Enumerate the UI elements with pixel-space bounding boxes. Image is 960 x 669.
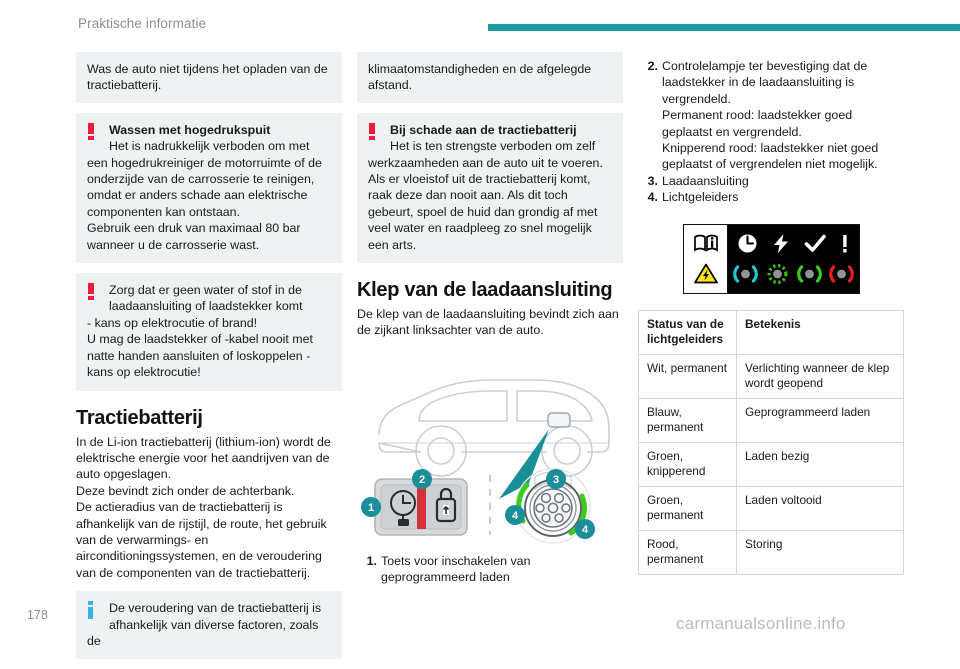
charging-flap-diagram: 1 2 3 4 4 <box>357 351 623 547</box>
svg-text:2: 2 <box>419 474 425 486</box>
warning-icon <box>87 283 95 301</box>
paragraph: De actieradius van de tractiebatterij is… <box>76 499 342 581</box>
list-item-1: 1. Toets voor inschakelen van geprogramm… <box>357 553 623 586</box>
callout-info-aging: De veroudering van de tractiebatterij is… <box>76 591 342 659</box>
table-cell-status: Groen, knipperend <box>639 442 737 486</box>
led-indicator-panel <box>683 224 860 294</box>
table-header-cell: Status van de lichtgeleiders <box>639 310 737 354</box>
table-header-cell: Betekenis <box>737 310 904 354</box>
table-cell-meaning: Geprogrammeerd laden <box>737 398 904 442</box>
exclamation-icon <box>840 233 850 254</box>
list-item-number: 2. <box>638 58 658 74</box>
manual-book-icon <box>693 233 719 253</box>
paragraph: In de Li-ion tractiebatterij (lithium-io… <box>76 434 342 483</box>
list-item-number: 4. <box>638 189 658 205</box>
table-row: Wit, permanent Verlichting wanneer de kl… <box>639 354 904 398</box>
list-item-4: 4. Lichtgeleiders <box>638 189 904 205</box>
svg-text:4: 4 <box>582 524 589 536</box>
table-row: Rood, permanent Storing <box>639 530 904 574</box>
callout-info-line-2: afhankelijk van diverse factoren, zoals … <box>87 617 331 650</box>
clock-icon <box>737 233 758 254</box>
led-indicator-icon <box>732 264 759 284</box>
callout-intro: Was de auto niet tijdens het opladen van… <box>76 52 342 103</box>
paragraph: De klep van de laadaansluiting bevindt z… <box>357 306 623 339</box>
callout-heading: Wassen met hogedrukspuit <box>87 122 331 138</box>
car-silhouette-icon <box>379 380 609 476</box>
callout-1: 1 <box>361 497 381 517</box>
plug-icon <box>398 519 409 526</box>
callout-heading: Bij schade aan de tractiebatterij <box>368 122 612 138</box>
table-cell-status: Wit, permanent <box>639 354 737 398</box>
lightning-bolt-icon <box>771 233 791 254</box>
info-icon <box>88 601 95 619</box>
red-indicator-strip <box>417 485 426 529</box>
callout-lead-1: Zorg dat er geen water of stof in de <box>87 282 331 298</box>
callout-4-left: 4 <box>505 505 525 525</box>
list-item-2: 2. Controlelampje ter bevestiging dat de… <box>638 58 904 173</box>
checkmark-icon <box>804 233 827 254</box>
callout-lead: Het is nadrukkelijk verboden om met <box>87 138 331 154</box>
list-item-text: Laadaansluiting <box>662 174 749 188</box>
warning-icon <box>87 123 95 141</box>
header-rule <box>488 24 960 31</box>
content-column-middle: klimaatomstandigheden en de afgelegde af… <box>357 52 623 586</box>
table-row: Blauw, permanent Geprogrammeerd laden <box>639 398 904 442</box>
section-title-tractiebatterij: Tractiebatterij <box>76 407 342 430</box>
table-cell-status: Groen, permanent <box>639 486 737 530</box>
callout-body: werkzaamheden aan de auto uit te voeren.… <box>368 156 603 252</box>
paragraph-block: In de Li-ion tractiebatterij (lithium-io… <box>76 434 342 582</box>
table-row: Groen, permanent Laden voltooid <box>639 486 904 530</box>
list-item-number: 3. <box>638 173 658 189</box>
svg-text:4: 4 <box>512 510 519 522</box>
callout-warning-water-dust: Zorg dat er geen water of stof in de laa… <box>76 273 342 390</box>
table-row: Groen, knipperend Laden bezig <box>639 442 904 486</box>
warning-icon <box>368 123 376 141</box>
list-item-text: Toets voor inschakelen van geprogrammeer… <box>381 554 530 584</box>
callout-lead-2: laadaansluiting of laadstekker komt <box>87 298 331 314</box>
indicator-panel-symbols <box>728 225 859 293</box>
callout-2: 2 <box>412 469 432 489</box>
table-cell-meaning: Laden bezig <box>737 442 904 486</box>
numbered-list-part-2: 2. Controlelampje ter bevestiging dat de… <box>638 58 904 206</box>
callout-warning-pressure-wash: Wassen met hogedrukspuit Het is nadrukke… <box>76 113 342 263</box>
callout-info-line-1: De veroudering van de tractiebatterij is <box>87 600 331 616</box>
list-item-text: Controlelampje ter bevestiging dat de la… <box>662 58 904 107</box>
callout-body: een hogedrukreiniger de motorruimte of d… <box>87 156 322 219</box>
content-column-right: 2. Controlelampje ter bevestiging dat de… <box>638 52 904 575</box>
callout-body: - kans op elektrocutie of brand! <box>87 315 331 331</box>
led-indicator-icon <box>828 264 855 284</box>
header-title: Praktische informatie <box>78 16 206 31</box>
led-indicator-icon <box>796 264 823 284</box>
page-header: Praktische informatie <box>0 0 960 40</box>
list-item-number: 1. <box>357 553 377 569</box>
callout-3: 3 <box>546 469 566 489</box>
svg-text:1: 1 <box>368 502 374 514</box>
callout-body-2: Gebruik een druk van maximaal 80 bar wan… <box>87 220 331 253</box>
section-title-klep: Klep van de laadaansluiting <box>357 279 623 302</box>
light-guide-status-table: Status van de lichtgeleiders Betekenis W… <box>638 310 904 575</box>
table-cell-meaning: Laden voltooid <box>737 486 904 530</box>
list-item-text: Knipperend rood: laadstekker niet goed g… <box>662 140 904 173</box>
indicator-led-row-bottom <box>730 264 857 284</box>
list-item-text: Permanent rood: laadstekker goed geplaat… <box>662 107 904 140</box>
indicator-panel-legend <box>684 225 728 293</box>
callout-continuation-line-2: afstand. <box>368 77 612 93</box>
callout-4-right: 4 <box>575 519 595 539</box>
callout-warning-battery-damage: Bij schade aan de tractiebatterij Het is… <box>357 113 623 263</box>
table-cell-status: Rood, permanent <box>639 530 737 574</box>
callout-continuation-line-1: klimaatomstandigheden en de afgelegde <box>368 61 612 77</box>
table-cell-meaning: Verlichting wanneer de klep wordt geopen… <box>737 354 904 398</box>
callout-intro-text: Was de auto niet tijdens het opladen van… <box>87 62 328 92</box>
paragraph: Deze bevindt zich onder de achterbank. <box>76 483 342 499</box>
charging-flap-marker-icon <box>548 413 570 427</box>
table-header-row: Status van de lichtgeleiders Betekenis <box>639 310 904 354</box>
numbered-list-part-1: 1. Toets voor inschakelen van geprogramm… <box>357 553 623 586</box>
page-number: 178 <box>27 608 48 622</box>
indicator-symbol-row-top <box>730 233 857 254</box>
electric-hazard-icon <box>694 263 718 284</box>
table-cell-status: Blauw, permanent <box>639 398 737 442</box>
content-column-left: Was de auto niet tijdens het opladen van… <box>76 52 342 669</box>
callout-continuation: klimaatomstandigheden en de afgelegde af… <box>357 52 623 103</box>
callout-lead: Het is ten strengste verboden om zelf <box>368 138 612 154</box>
list-item-text: Lichtgeleiders <box>662 190 738 204</box>
watermark: carmanualsonline.info <box>676 614 846 634</box>
svg-text:3: 3 <box>553 474 559 486</box>
led-indicator-icon <box>764 264 791 284</box>
list-item-3: 3. Laadaansluiting <box>638 173 904 189</box>
callout-body-2: U mag de laadstekker of -kabel nooit met… <box>87 332 313 379</box>
table-cell-meaning: Storing <box>737 530 904 574</box>
